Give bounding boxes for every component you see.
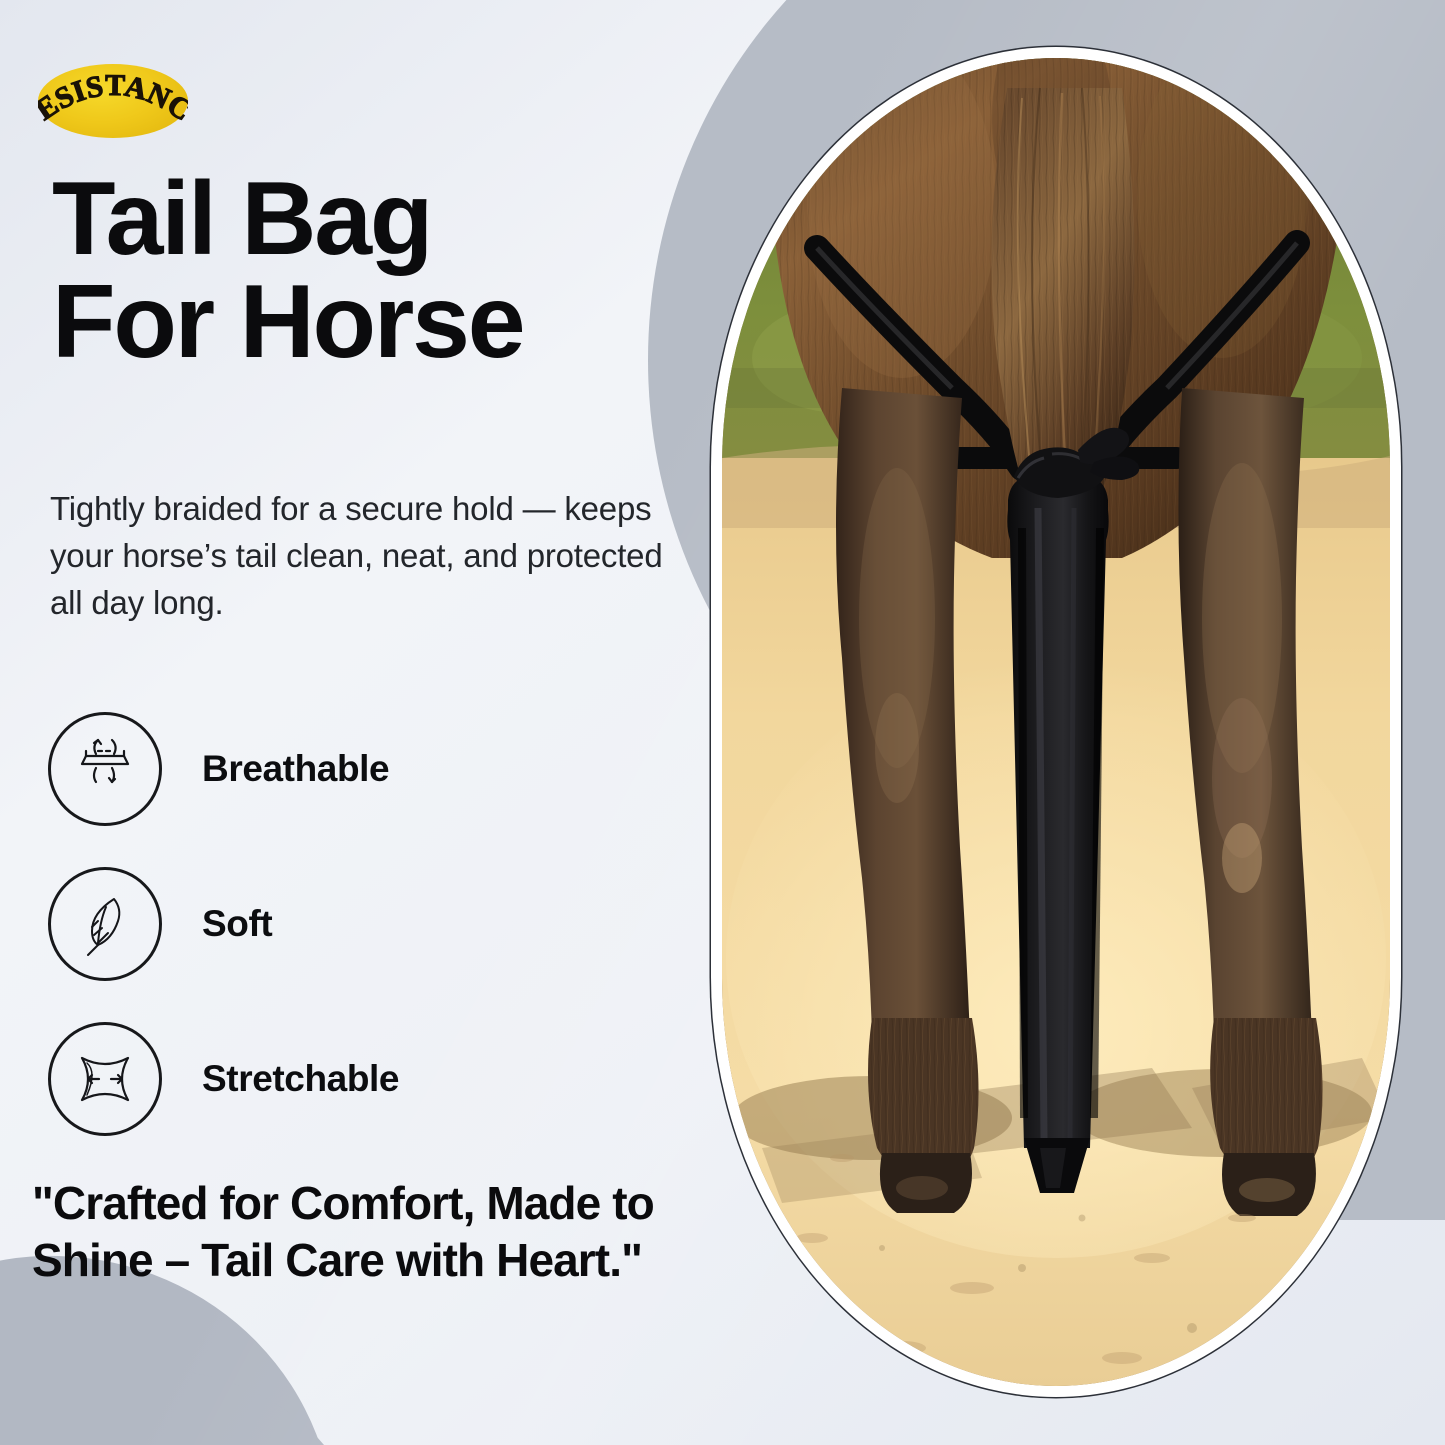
feature-list: Breathable Soft: [48, 691, 668, 1156]
horse-tail-bag-illustration: [722, 58, 1390, 1386]
product-description: Tightly braided for a secure hold — keep…: [50, 486, 675, 627]
feature-label-stretchable: Stretchable: [202, 1058, 399, 1100]
brand-logo: RESISTANCE: [38, 64, 188, 138]
left-content-column: RESISTANCE Tail Bag For Horse Tightly br…: [0, 0, 700, 1445]
tagline-quote: "Crafted for Comfort, Made to Shine – Ta…: [32, 1175, 732, 1289]
feather-icon: [48, 867, 162, 981]
feature-item-stretchable: Stretchable: [48, 1001, 668, 1156]
stretch-arrows-icon: [48, 1022, 162, 1136]
page-title: Tail Bag For Horse: [52, 168, 692, 374]
breathable-fabric-airflow-icon: [48, 712, 162, 826]
product-photo-image: [722, 58, 1390, 1386]
feature-label-breathable: Breathable: [202, 748, 389, 790]
product-photo-frame: [711, 47, 1401, 1397]
product-infographic: RESISTANCE Tail Bag For Horse Tightly br…: [0, 0, 1445, 1445]
logo-arched-text: RESISTANCE: [38, 64, 188, 138]
feature-item-soft: Soft: [48, 846, 668, 1001]
logo-text: RESISTANCE: [38, 64, 188, 128]
product-photo: [722, 58, 1390, 1386]
feature-item-breathable: Breathable: [48, 691, 668, 846]
feature-label-soft: Soft: [202, 903, 272, 945]
